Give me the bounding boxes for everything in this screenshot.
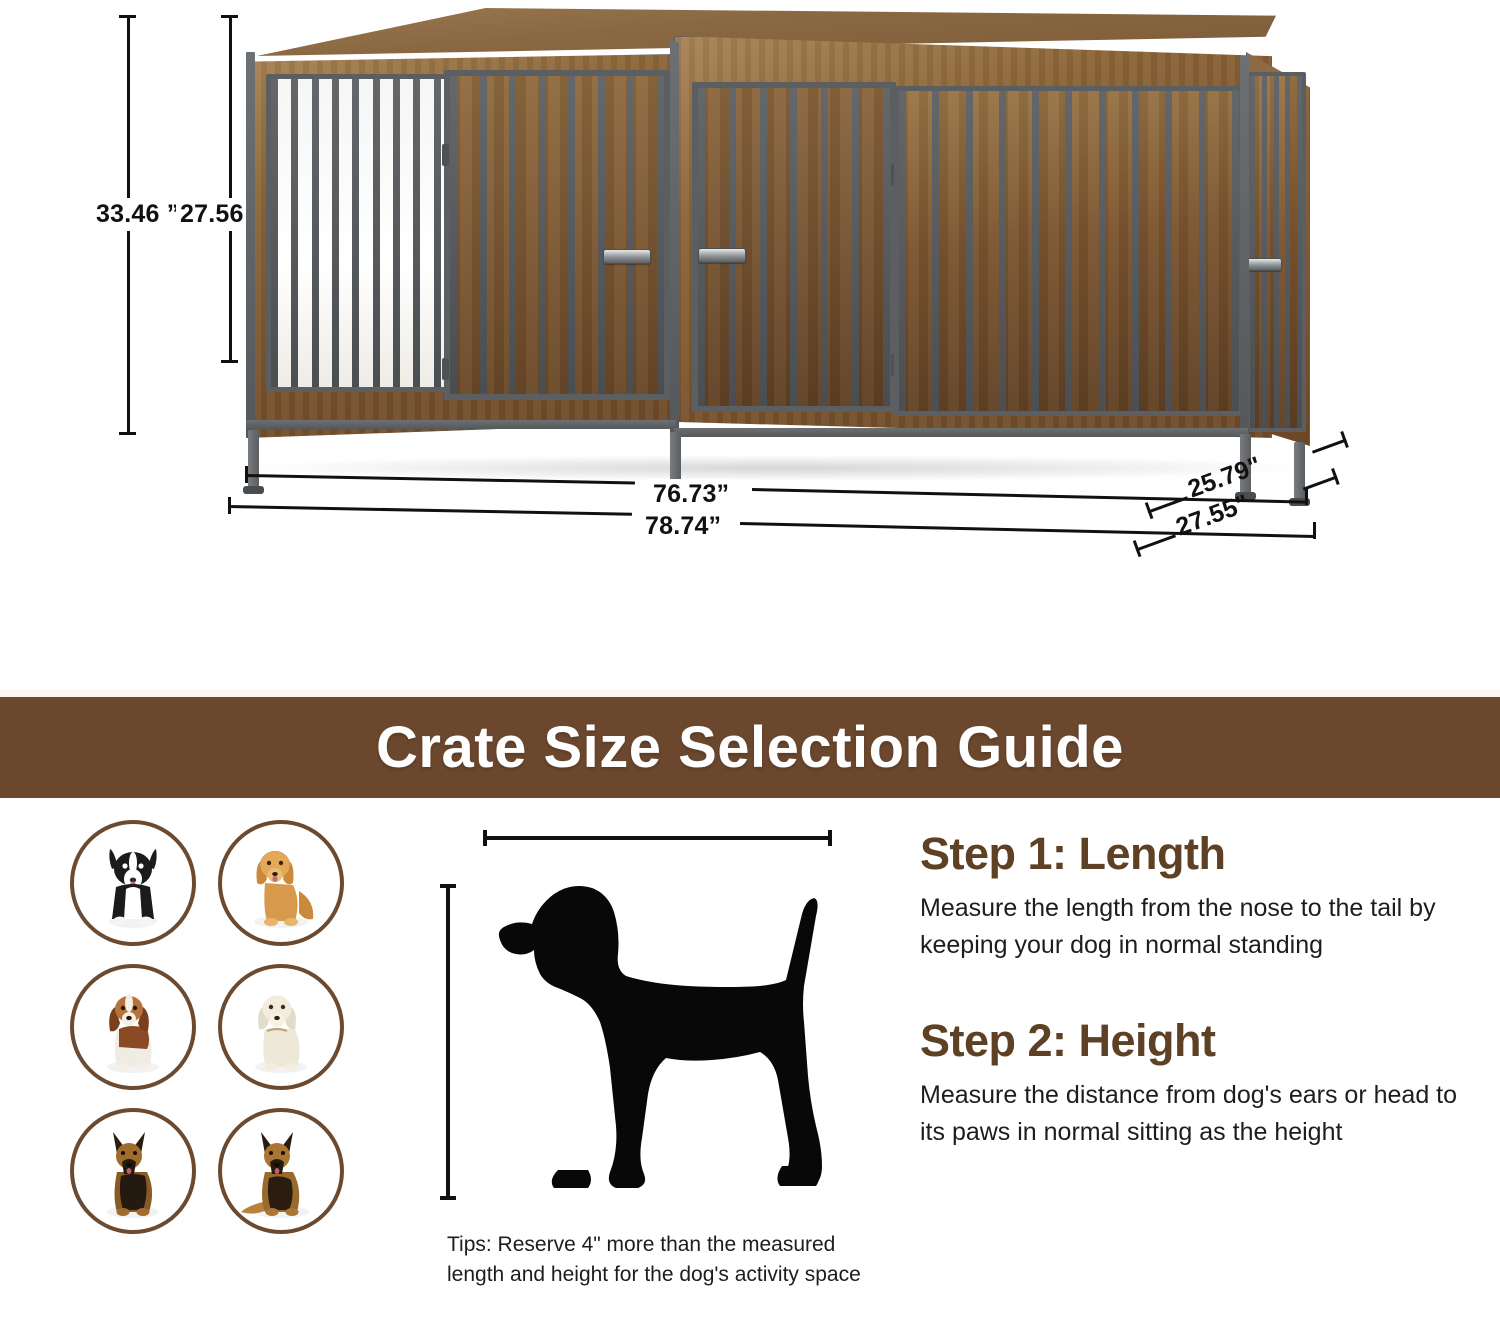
german-shepherd-icon — [93, 1126, 173, 1220]
crate-right-bar-panel — [894, 86, 1244, 416]
guide-banner: Crate Size Selection Guide — [0, 697, 1500, 798]
german-shepherd-long-icon — [239, 1126, 323, 1220]
breed-circle-german-shepherd — [70, 1108, 196, 1234]
crate-end-door-latch[interactable] — [1246, 258, 1282, 271]
crate-frame-rail-bottom-right — [674, 428, 1248, 437]
crate-right-door-latch[interactable] — [698, 248, 746, 263]
crate-right-door[interactable] — [692, 82, 896, 412]
breed-row — [70, 820, 400, 946]
crate-frame-rail-bottom-left — [246, 420, 676, 429]
banner-top-strip — [0, 690, 1500, 697]
dog-measurement-diagram — [430, 808, 880, 1228]
crate-left-bar-panel — [266, 74, 466, 392]
crate-left-door-hinge-bottom — [442, 358, 449, 380]
step-1-block: Step 1: Length Measure the length from t… — [920, 828, 1460, 963]
dog-silhouette-icon — [430, 808, 880, 1228]
crate-left-door-hinge-top — [442, 144, 449, 166]
labrador-icon — [241, 983, 321, 1075]
crate-body — [246, 36, 1266, 436]
crate-leg-front-left — [248, 430, 259, 488]
breed-circle-golden-retriever — [218, 820, 344, 946]
size-guide-section: Tips: Reserve 4" more than the measured … — [0, 798, 1500, 1324]
length-measure-line — [485, 830, 830, 846]
breed-row — [70, 964, 400, 1090]
beagle-icon — [93, 983, 173, 1075]
crate-end-bar-panel — [1246, 72, 1306, 432]
step-2-block: Step 2: Height Measure the distance from… — [920, 1015, 1460, 1150]
step-1-heading: Step 1: Length — [920, 828, 1460, 880]
breed-row — [70, 1108, 400, 1234]
crate-frame-post-right — [1240, 56, 1249, 438]
breed-circle-beagle — [70, 964, 196, 1090]
product-dimension-section: 33.46 ” 27.56 ” — [0, 0, 1500, 697]
step-2-heading: Step 2: Height — [920, 1015, 1460, 1067]
border-collie-icon — [96, 839, 170, 931]
breed-circle-border-collie — [70, 820, 196, 946]
crate-left-door[interactable] — [444, 70, 670, 400]
breed-gallery — [70, 820, 400, 1252]
tips-text: Tips: Reserve 4" more than the measured … — [447, 1230, 867, 1290]
crate-leg-back-right — [1294, 442, 1305, 500]
height-outer-label: 33.46 ” — [92, 198, 183, 231]
banner-title: Crate Size Selection Guide — [376, 714, 1124, 781]
crate-left-door-latch[interactable] — [603, 249, 651, 264]
step-1-body: Measure the length from the nose to the … — [920, 890, 1460, 963]
infographic-page: 33.46 ” 27.56 ” — [0, 0, 1500, 1324]
golden-retriever-icon — [241, 839, 321, 931]
step-2-body: Measure the distance from dog's ears or … — [920, 1077, 1460, 1150]
length-inner-label: 76.73” — [648, 479, 734, 510]
crate-frame-post-left — [246, 52, 255, 438]
length-outer-label: 78.74” — [640, 511, 726, 542]
dog-crate-illustration — [228, 8, 1288, 478]
crate-frame-post-center — [670, 42, 679, 438]
height-measure-line — [440, 886, 456, 1198]
breed-circle-german-shepherd-long — [218, 1108, 344, 1234]
steps-column: Step 1: Length Measure the length from t… — [920, 828, 1460, 1150]
crate-foot-front-left — [243, 486, 264, 494]
breed-circle-labrador — [218, 964, 344, 1090]
